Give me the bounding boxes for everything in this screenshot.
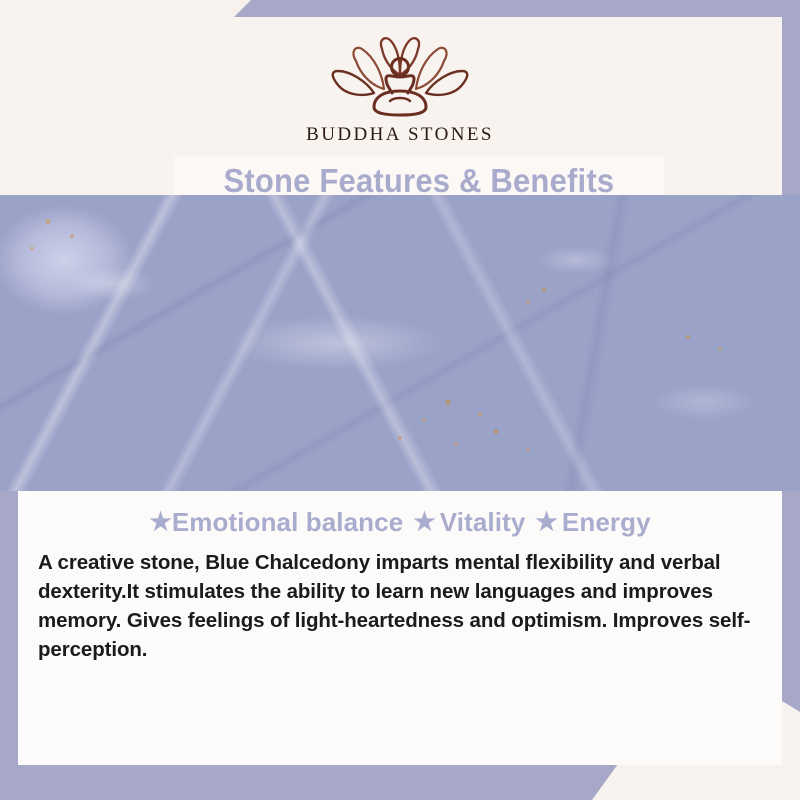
benefits-list: ★ Emotional balance ★ Vitality ★ Energy xyxy=(18,507,782,538)
description-text: A creative stone, Blue Chalcedony impart… xyxy=(38,548,762,664)
poster-root: BUDDHA STONES Stone Features & Benefits … xyxy=(0,0,800,800)
brand-name: BUDDHA STONES xyxy=(306,124,494,146)
decorative-band-bottom xyxy=(0,764,618,800)
benefit-label: Energy xyxy=(562,507,651,538)
stone-photo: Blue Chalcedony xyxy=(0,195,800,491)
brand-logo: BUDDHA STONES xyxy=(285,31,515,146)
benefit-item-emotional-balance: ★ Emotional balance xyxy=(149,507,403,538)
description-panel: ★ Emotional balance ★ Vitality ★ Energy … xyxy=(18,491,782,765)
benefit-label: Vitality xyxy=(440,507,526,538)
benefit-item-vitality: ★ Vitality xyxy=(413,507,525,538)
benefit-label: Emotional balance xyxy=(172,507,403,538)
benefit-item-energy: ★ Energy xyxy=(535,507,650,538)
photo-highlight-layer xyxy=(0,195,800,491)
star-icon: ★ xyxy=(149,510,172,535)
star-icon: ★ xyxy=(535,510,558,535)
star-icon: ★ xyxy=(413,510,436,535)
lotus-meditating-buddha-icon xyxy=(312,31,488,119)
